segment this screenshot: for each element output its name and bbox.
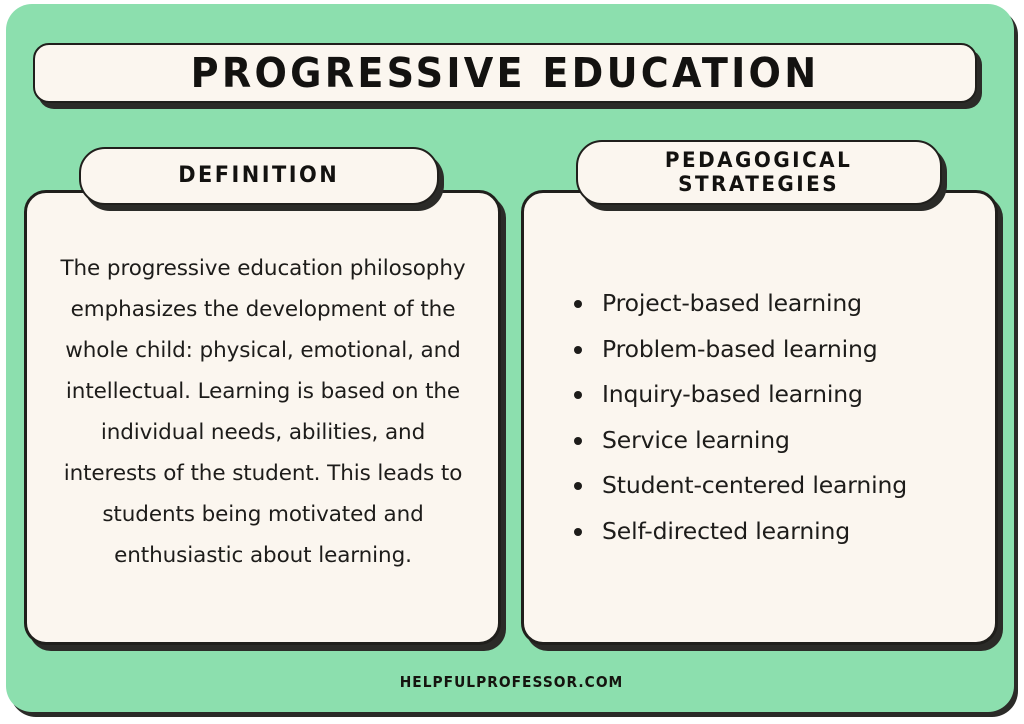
footer-attribution: HELPFULPROFESSOR.COM xyxy=(0,673,1024,691)
list-item-label: Project-based learning xyxy=(602,289,862,317)
columns-container: DEFINITION The progressive education phi… xyxy=(0,0,1024,724)
list-item-label: Student-centered learning xyxy=(602,471,907,499)
infographic-poster: PROGRESSIVE EDUCATION DEFINITION The pro… xyxy=(0,0,1024,724)
bullet-dot-icon xyxy=(574,482,582,490)
definition-paragraph: The progressive education philosophy emp… xyxy=(54,248,472,576)
bullet-dot-icon xyxy=(574,300,582,308)
strategies-heading-line2: STRATEGIES xyxy=(679,172,840,196)
bullet-dot-icon xyxy=(574,346,582,354)
strategies-heading-pill: PEDAGOGICAL STRATEGIES xyxy=(576,140,942,205)
strategies-heading-label: PEDAGOGICAL STRATEGIES xyxy=(665,149,852,196)
footer-attribution-label: HELPFULPROFESSOR.COM xyxy=(400,673,624,691)
bullet-dot-icon xyxy=(574,437,582,445)
list-item: Student-centered learning xyxy=(566,463,986,509)
list-item: Self-directed learning xyxy=(566,509,986,555)
strategies-heading-line1: PEDAGOGICAL xyxy=(665,148,852,172)
bullet-dot-icon xyxy=(574,391,582,399)
list-item: Project-based learning xyxy=(566,281,986,327)
list-item-label: Service learning xyxy=(602,426,790,454)
list-item: Problem-based learning xyxy=(566,327,986,373)
list-item-label: Problem-based learning xyxy=(602,335,878,363)
definition-heading-label: DEFINITION xyxy=(179,164,340,189)
bullet-dot-icon xyxy=(574,528,582,536)
strategies-list: Project-based learning Problem-based lea… xyxy=(566,281,986,554)
list-item-label: Inquiry-based learning xyxy=(602,380,863,408)
list-item-label: Self-directed learning xyxy=(602,517,850,545)
list-item: Service learning xyxy=(566,418,986,464)
list-item: Inquiry-based learning xyxy=(566,372,986,418)
definition-heading-pill: DEFINITION xyxy=(79,147,439,205)
